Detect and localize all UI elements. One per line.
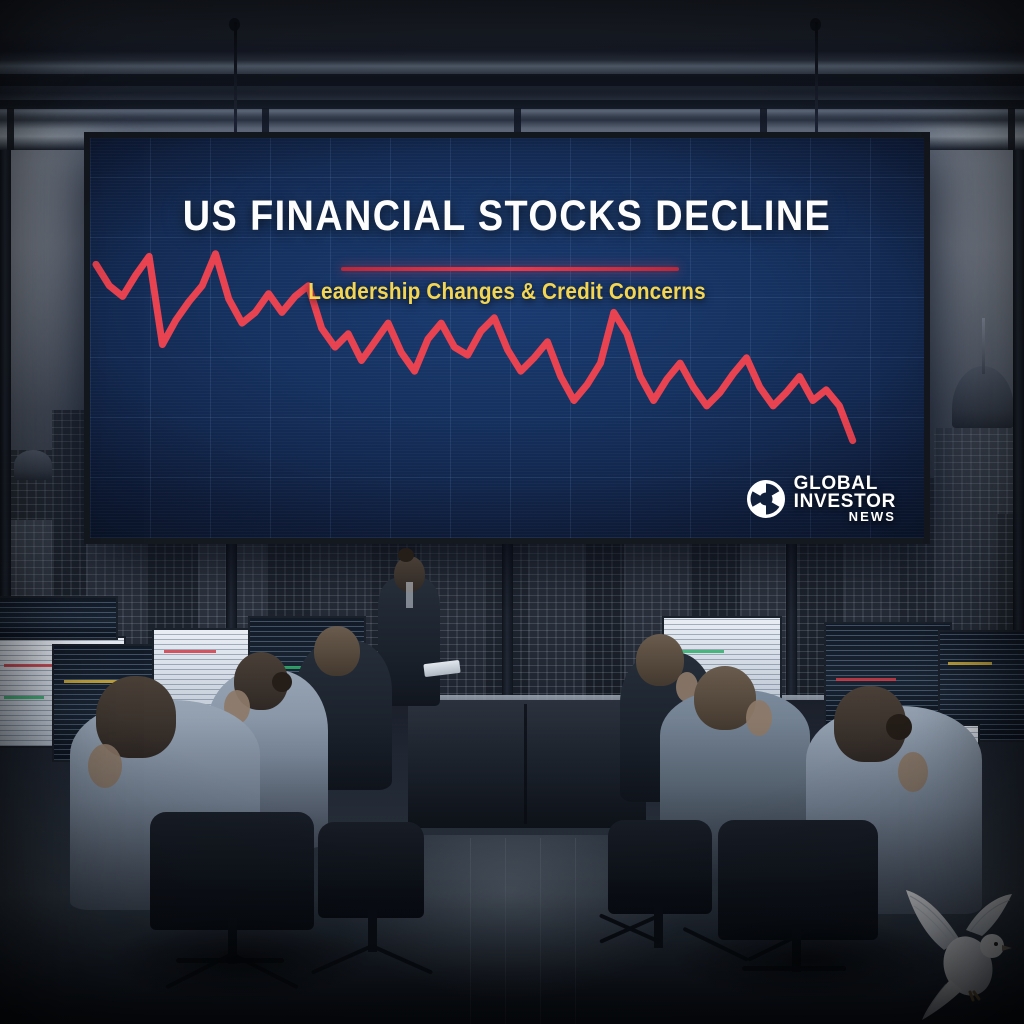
center-cabinet xyxy=(408,700,646,828)
hand-covering-face xyxy=(88,744,122,788)
hand-to-forehead xyxy=(746,700,772,736)
monitor-accent xyxy=(4,696,44,699)
hair-bun xyxy=(272,672,292,692)
tower-roof xyxy=(14,450,52,480)
channel-logo: GLOBAL INVESTOR NEWS xyxy=(747,475,896,524)
monitor-accent xyxy=(836,678,896,681)
display-screen[interactable]: US FINANCIAL STOCKS DECLINE Leadership C… xyxy=(90,138,924,538)
news-graphic-scene: US FINANCIAL STOCKS DECLINE Leadership C… xyxy=(0,0,1024,1024)
floor-plank-seam xyxy=(575,838,576,1024)
monitor-rows xyxy=(0,598,116,638)
aperture-icon xyxy=(747,480,785,518)
collar xyxy=(406,582,413,608)
hand-covering-face xyxy=(898,752,928,792)
cabinet-seam xyxy=(524,704,527,824)
tower-spire xyxy=(982,318,985,374)
floor-plank-seam xyxy=(470,838,471,1024)
suspension-cable xyxy=(234,22,237,142)
floor-shadow xyxy=(60,900,420,1020)
suspension-cable xyxy=(815,22,818,142)
window-mullion xyxy=(7,108,14,152)
page-title: US FINANCIAL STOCKS DECLINE xyxy=(140,192,874,241)
hair-bun xyxy=(886,714,912,740)
logo-wordmark: GLOBAL INVESTOR NEWS xyxy=(794,475,896,524)
window-mullion xyxy=(1008,108,1015,152)
hair-bun xyxy=(398,548,414,562)
monitor-accent xyxy=(948,662,992,665)
trader-head xyxy=(314,626,360,676)
white-dove-icon xyxy=(900,880,1020,1020)
display-screen-frame: US FINANCIAL STOCKS DECLINE Leadership C… xyxy=(84,132,930,544)
page-subtitle: Leadership Changes & Credit Concerns xyxy=(132,278,883,305)
ceiling-beam xyxy=(0,100,1024,109)
logo-line-3: NEWS xyxy=(849,511,896,524)
monitor[interactable] xyxy=(0,596,118,640)
floor-plank-seam xyxy=(540,838,541,1024)
ceiling-beam xyxy=(0,74,1024,86)
title-underline xyxy=(341,267,679,271)
floor-plank-seam xyxy=(505,838,506,1024)
monitor-accent xyxy=(164,650,216,653)
